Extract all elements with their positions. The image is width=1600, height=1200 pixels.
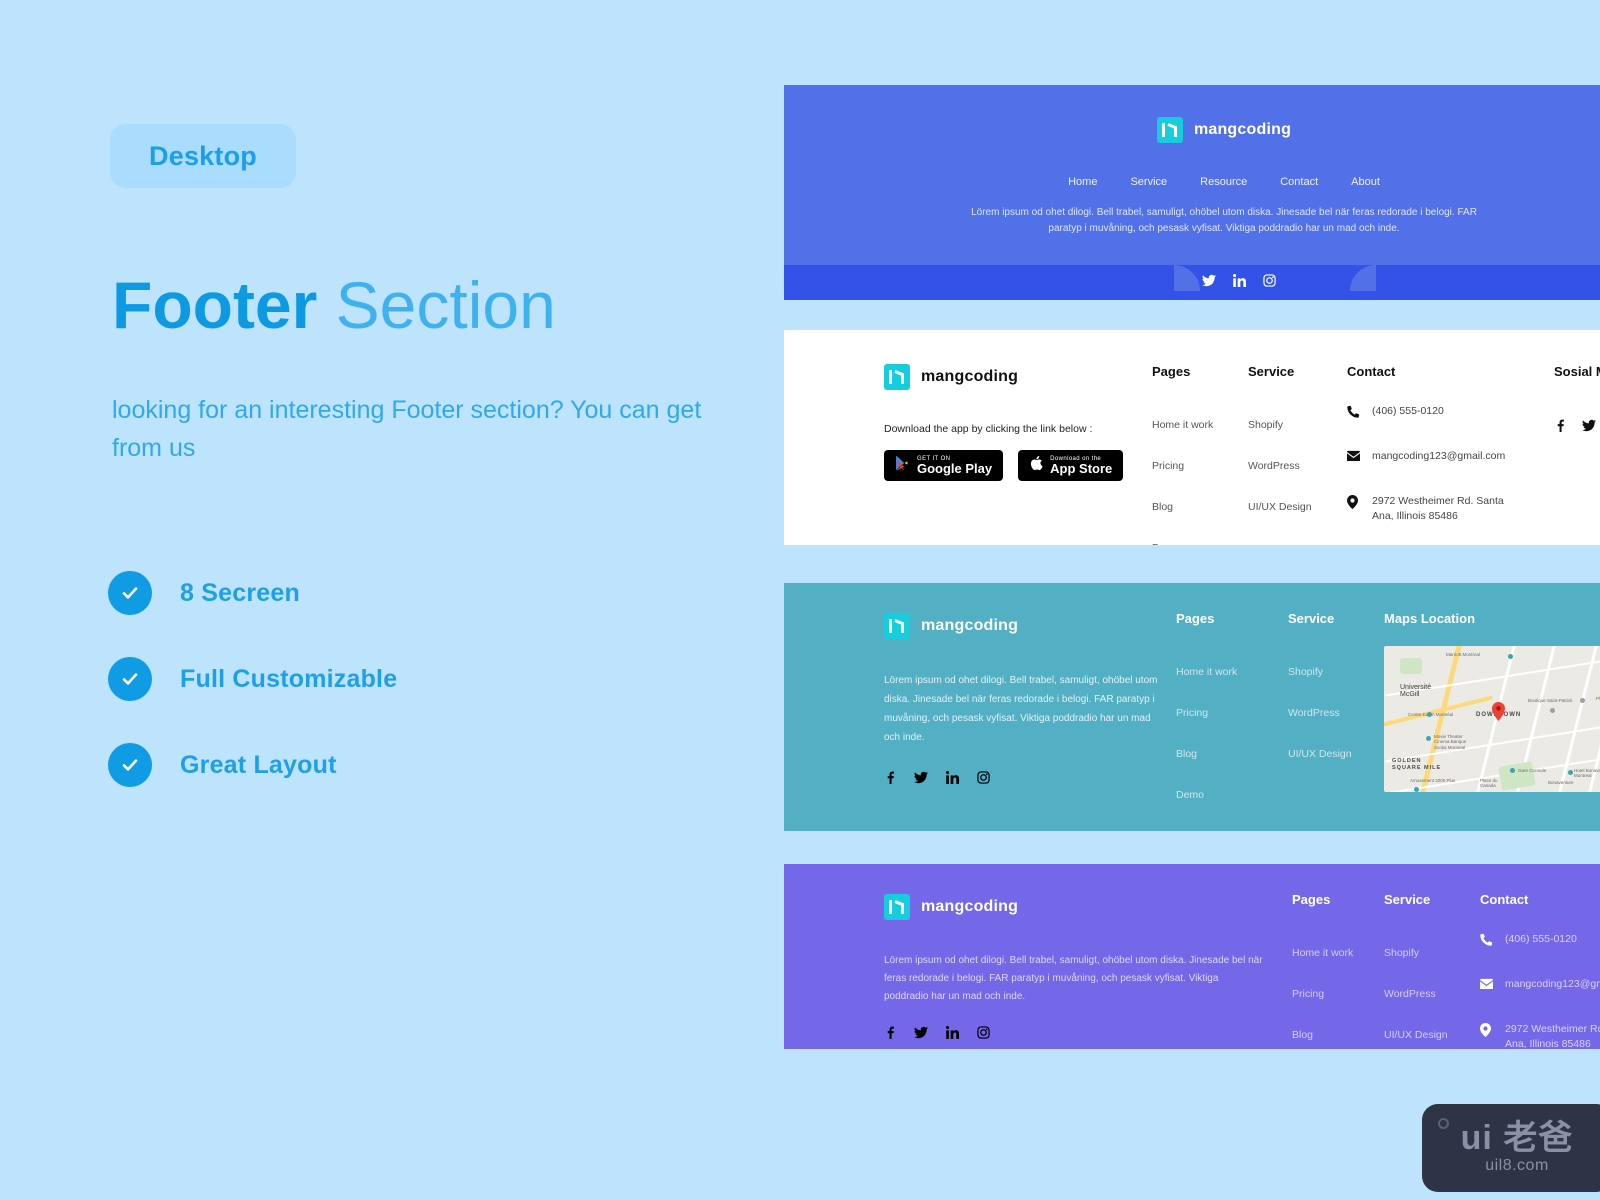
social-links (1173, 274, 1276, 292)
linkedin-icon[interactable] (1233, 274, 1246, 292)
footer-mockup-white: mangcoding Download the app by clicking … (784, 330, 1600, 545)
map-label: Place d'A (1596, 696, 1600, 701)
map-label: UniversitéMcGill (1400, 684, 1431, 698)
check-icon (108, 743, 152, 787)
page-subtitle: looking for an interesting Footer sectio… (112, 392, 712, 467)
brand-logo: mangcoding (884, 613, 1164, 639)
contact-heading: Contact (1347, 364, 1522, 379)
desktop-badge: Desktop (110, 124, 296, 188)
twitter-icon[interactable] (914, 1026, 928, 1044)
pages-link-pricing[interactable]: Pricing (1176, 707, 1237, 719)
page-title: Footer Section (112, 272, 556, 338)
service-link-shopify[interactable]: Shopify (1288, 666, 1352, 678)
pages-heading: Pages (1292, 892, 1353, 907)
footer-mockup-teal: mangcoding Lörem ipsum od ohet dilogi. B… (784, 583, 1600, 831)
nav-link-resource[interactable]: Resource (1200, 176, 1247, 188)
feature-label: 8 Secreen (180, 579, 300, 608)
contact-address[interactable]: 2972 Westheimer Rd. Santa Ana, Illinois … (1347, 494, 1522, 526)
map-label: Amusement 2000 Plus (1410, 778, 1455, 783)
pages-link-blog[interactable]: Blog (1292, 1029, 1353, 1041)
facebook-icon[interactable] (884, 1026, 896, 1044)
footer-blurb: Lörem ipsum od ohet dilogi. Bell trabel,… (884, 952, 1264, 1006)
footer-blurb: Lörem ipsum od ohet dilogi. Bell trabel,… (959, 205, 1489, 236)
contact-phone-value: (406) 555-0120 (1505, 932, 1577, 948)
pages-link-demo[interactable]: Demo (1176, 789, 1237, 801)
social-links (1554, 419, 1600, 437)
service-heading: Service (1248, 364, 1312, 379)
pages-link-home-it-work[interactable]: Home it work (1292, 947, 1353, 959)
twitter-icon[interactable] (1582, 419, 1596, 437)
instagram-icon[interactable] (977, 1026, 990, 1044)
mangcoding-logo-icon (884, 364, 910, 390)
map-pin-icon (1492, 702, 1505, 721)
check-icon (108, 571, 152, 615)
apple-icon (1029, 455, 1043, 476)
pages-link-demo[interactable]: Demo (1152, 542, 1213, 545)
mail-icon (1480, 978, 1493, 997)
page-title-bold: Footer (112, 268, 317, 342)
feature-list: 8 Secreen Full Customizable Great Layout (108, 550, 608, 808)
service-link-wordpress[interactable]: WordPress (1288, 707, 1352, 719)
phone-icon (1347, 405, 1360, 424)
linkedin-icon[interactable] (946, 1026, 959, 1044)
twitter-icon[interactable] (1202, 274, 1216, 292)
pages-link-home-it-work[interactable]: Home it work (1176, 666, 1237, 678)
watermark-main: ui 老爸 (1461, 1121, 1574, 1155)
map-label: Gare Centrale (1518, 768, 1546, 773)
footer-mockup-blue: mangcoding Home Service Resource Contact… (784, 85, 1600, 300)
mangcoding-logo-icon (884, 894, 910, 920)
contact-email-value: mangcoding123@gmail.com (1372, 449, 1505, 465)
service-column: Service Shopify WordPress UI/UX Design (1248, 364, 1312, 513)
app-store-title: App Store (1050, 462, 1112, 476)
pages-link-home-it-work[interactable]: Home it work (1152, 419, 1213, 431)
facebook-icon[interactable] (884, 771, 896, 789)
brand-name: mangcoding (921, 368, 1018, 386)
social-column: Sosial Media (1554, 364, 1600, 437)
brand-column: mangcoding Lörem ipsum od ohet dilogi. B… (884, 894, 1264, 1044)
contact-email-value: mangcoding123@gmail.com (1505, 977, 1600, 993)
social-links (884, 771, 1164, 789)
nav-link-about[interactable]: About (1351, 176, 1380, 188)
brand-column: mangcoding Lörem ipsum od ohet dilogi. B… (884, 613, 1164, 789)
social-heading: Sosial Media (1554, 364, 1600, 379)
map-label: Movie TheaterCinema BanqueScotia Montrea… (1434, 734, 1466, 750)
maps-column: Maps Location Marriott Montreal Universi… (1384, 611, 1600, 792)
contact-phone[interactable]: (406) 555-0120 (1480, 932, 1600, 952)
service-link-shopify[interactable]: Shopify (1248, 419, 1312, 431)
footer-nav: Home Service Resource Contact About (784, 176, 1600, 188)
facebook-icon[interactable] (1173, 274, 1185, 292)
contact-email[interactable]: mangcoding123@gmail.com (1347, 449, 1522, 469)
check-icon (108, 657, 152, 701)
social-links (884, 1026, 1264, 1044)
service-column: Service Shopify WordPress UI/UX Design (1384, 892, 1448, 1041)
linkedin-icon[interactable] (946, 771, 959, 789)
map-image[interactable]: Marriott Montreal UniversitéMcGill Centr… (1384, 646, 1600, 792)
pages-heading: Pages (1152, 364, 1213, 379)
intro-panel: Desktop Footer Section looking for an in… (0, 0, 800, 1200)
service-heading: Service (1384, 892, 1448, 907)
contact-column: Contact (406) 555-0120 mangcoding123@gma… (1347, 364, 1522, 525)
app-store-button[interactable]: Download on the App Store (1018, 450, 1123, 481)
mail-icon (1347, 450, 1360, 469)
map-label: GOLDENSQUARE MILE (1392, 758, 1441, 772)
brand-name: mangcoding (1194, 121, 1291, 139)
brand-name: mangcoding (921, 617, 1018, 635)
brand-name: mangcoding (921, 898, 1018, 916)
twitter-icon[interactable] (914, 771, 928, 789)
pages-link-blog[interactable]: Blog (1152, 501, 1213, 513)
nav-link-service[interactable]: Service (1130, 176, 1167, 188)
map-label: Bonaventure (1548, 780, 1574, 785)
feature-label: Great Layout (180, 751, 337, 780)
pages-link-pricing[interactable]: Pricing (1152, 460, 1213, 472)
maps-heading: Maps Location (1384, 611, 1600, 626)
service-link-wordpress[interactable]: WordPress (1384, 988, 1448, 1000)
contact-address-value: 2972 Westheimer Rd. Santa Ana, Illinois … (1505, 1022, 1600, 1050)
service-link-shopify[interactable]: Shopify (1384, 947, 1448, 959)
feature-label: Full Customizable (180, 665, 397, 694)
circle-icon (1438, 1118, 1449, 1129)
map-label: Place duCanada (1480, 778, 1498, 789)
map-label: Marriott Montreal (1446, 652, 1480, 657)
pages-column: Pages Home it work Pricing Blog Demo (1152, 364, 1213, 545)
brand-logo: mangcoding (884, 894, 1264, 920)
pages-link-blog[interactable]: Blog (1176, 748, 1237, 760)
page-title-light: Section (317, 268, 555, 342)
page-root: Desktop Footer Section looking for an in… (0, 0, 1600, 1200)
service-link-uiux[interactable]: UI/UX Design (1384, 1029, 1448, 1041)
service-link-uiux[interactable]: UI/UX Design (1248, 501, 1312, 513)
map-label: Hotel BonaventureMontreal (1574, 768, 1600, 779)
contact-heading: Contact (1480, 892, 1600, 907)
contact-address[interactable]: 2972 Westheimer Rd. Santa Ana, Illinois … (1480, 1022, 1600, 1050)
nav-link-home[interactable]: Home (1068, 176, 1097, 188)
contact-phone-value: (406) 555-0120 (1372, 404, 1444, 420)
desktop-badge-label: Desktop (149, 141, 257, 172)
service-heading: Service (1288, 611, 1352, 626)
facebook-icon[interactable] (1554, 419, 1566, 437)
google-play-title: Google Play (917, 462, 992, 476)
feature-item: 8 Secreen (108, 550, 608, 636)
contact-email[interactable]: mangcoding123@gmail.com (1480, 977, 1600, 997)
location-pin-icon (1347, 495, 1360, 515)
mangcoding-logo-icon (884, 613, 910, 639)
location-pin-icon (1480, 1023, 1493, 1043)
instagram-icon[interactable] (977, 771, 990, 789)
service-link-wordpress[interactable]: WordPress (1248, 460, 1312, 472)
pages-heading: Pages (1176, 611, 1237, 626)
contact-column: Contact (406) 555-0120 mangcoding123@gma… (1480, 892, 1600, 1049)
brand-logo: mangcoding (784, 117, 1600, 143)
google-play-icon (895, 455, 910, 476)
google-play-button[interactable]: GET IT ON Google Play (884, 450, 1003, 481)
pages-column: Pages Home it work Pricing Blog Demo (1176, 611, 1237, 801)
watermark-badge: ui 老爸 uil8.com (1422, 1104, 1600, 1192)
contact-phone[interactable]: (406) 555-0120 (1347, 404, 1522, 424)
footer-blurb: Lörem ipsum od ohet dilogi. Bell trabel,… (884, 671, 1164, 747)
pages-link-pricing[interactable]: Pricing (1292, 988, 1353, 1000)
service-column: Service Shopify WordPress UI/UX Design (1288, 611, 1352, 760)
map-label: Boutique Saint-Patrick (1528, 698, 1573, 703)
service-link-uiux[interactable]: UI/UX Design (1288, 748, 1352, 760)
footer-mockup-purple: mangcoding Lörem ipsum od ohet dilogi. B… (784, 864, 1600, 1049)
contact-address-value: 2972 Westheimer Rd. Santa Ana, Illinois … (1372, 494, 1522, 526)
instagram-icon[interactable] (1263, 274, 1276, 292)
footer-social-bar (784, 265, 1600, 300)
pages-column: Pages Home it work Pricing Blog Demo (1292, 892, 1353, 1049)
watermark-sub: uil8.com (1485, 1157, 1549, 1175)
mangcoding-logo-icon (1157, 117, 1183, 143)
feature-item: Great Layout (108, 722, 608, 808)
phone-icon (1480, 933, 1493, 952)
feature-item: Full Customizable (108, 636, 608, 722)
nav-link-contact[interactable]: Contact (1280, 176, 1318, 188)
